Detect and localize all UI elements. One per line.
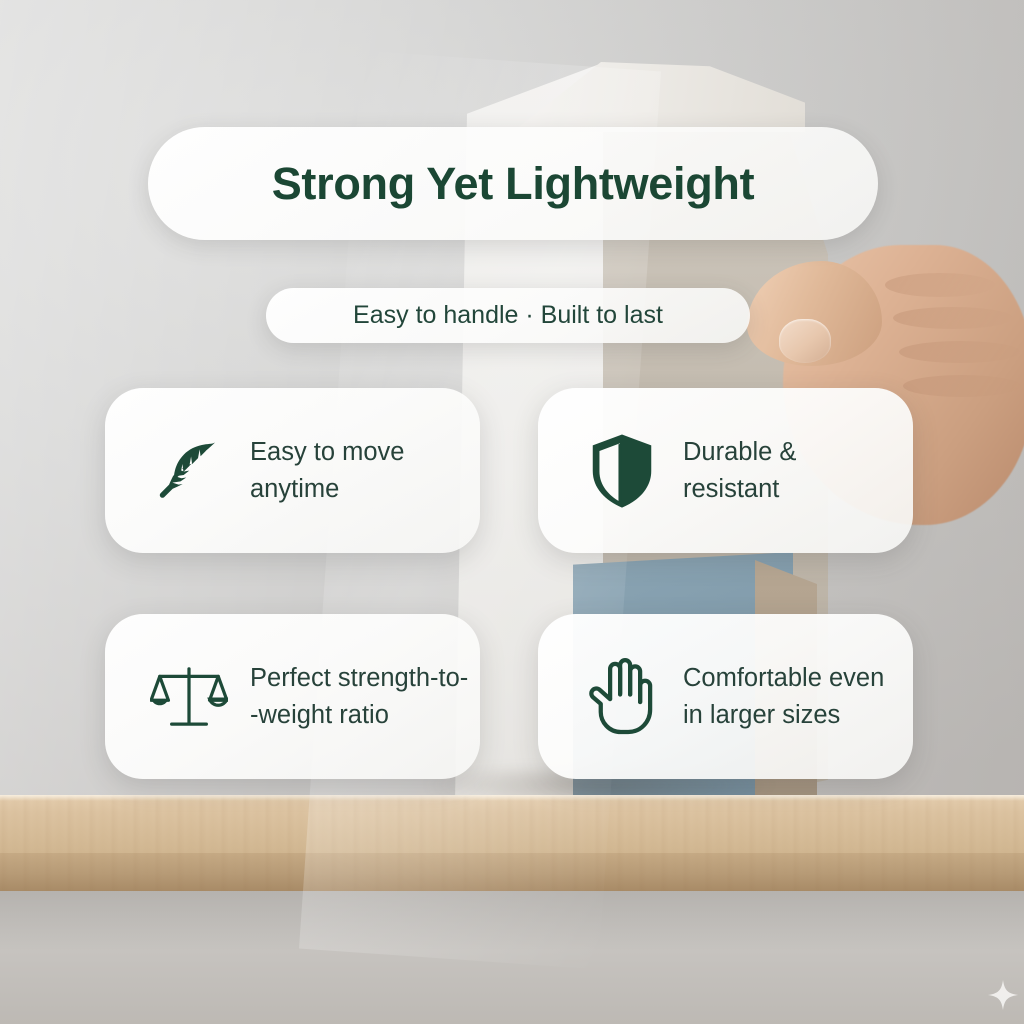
feature-card-easy-to-move[interactable]: Easy to move anytime	[105, 388, 480, 553]
feature-card-label: Comfortable even in larger sizes	[683, 660, 913, 732]
feather-icon	[150, 432, 228, 510]
thumb-nail	[779, 319, 831, 363]
page-title: Strong Yet Lightweight	[272, 158, 755, 210]
page-subtitle: Easy to handle · Built to last	[353, 301, 663, 330]
balance-scale-icon	[150, 658, 228, 736]
hand-crease	[903, 375, 1021, 397]
hand-thumb	[747, 261, 882, 366]
shelf-top-highlight	[0, 795, 1024, 801]
hand-crease	[893, 307, 1013, 329]
infographic-canvas: Strong Yet Lightweight Easy to handle · …	[0, 0, 1024, 1024]
feature-card-label: Durable & resistant	[683, 434, 913, 506]
sparkle-icon	[988, 980, 1018, 1010]
wooden-shelf	[0, 795, 1024, 891]
subtitle-pill: Easy to handle · Built to last	[266, 288, 750, 343]
shield-icon	[583, 432, 661, 510]
headline-pill: Strong Yet Lightweight	[148, 127, 878, 240]
hand-icon	[583, 658, 661, 736]
feature-card-comfortable[interactable]: Comfortable even in larger sizes	[538, 614, 913, 779]
shelf-front-face	[0, 853, 1024, 891]
feature-card-label: Easy to move anytime	[250, 434, 480, 506]
feature-card-durable[interactable]: Durable & resistant	[538, 388, 913, 553]
hand-crease	[885, 273, 995, 297]
feature-card-strength-to-weight[interactable]: Perfect strength-to- -weight ratio	[105, 614, 480, 779]
feature-card-label: Perfect strength-to- -weight ratio	[250, 660, 480, 732]
hand-crease	[899, 341, 1021, 363]
shelf-drop-shadow	[0, 891, 1024, 951]
